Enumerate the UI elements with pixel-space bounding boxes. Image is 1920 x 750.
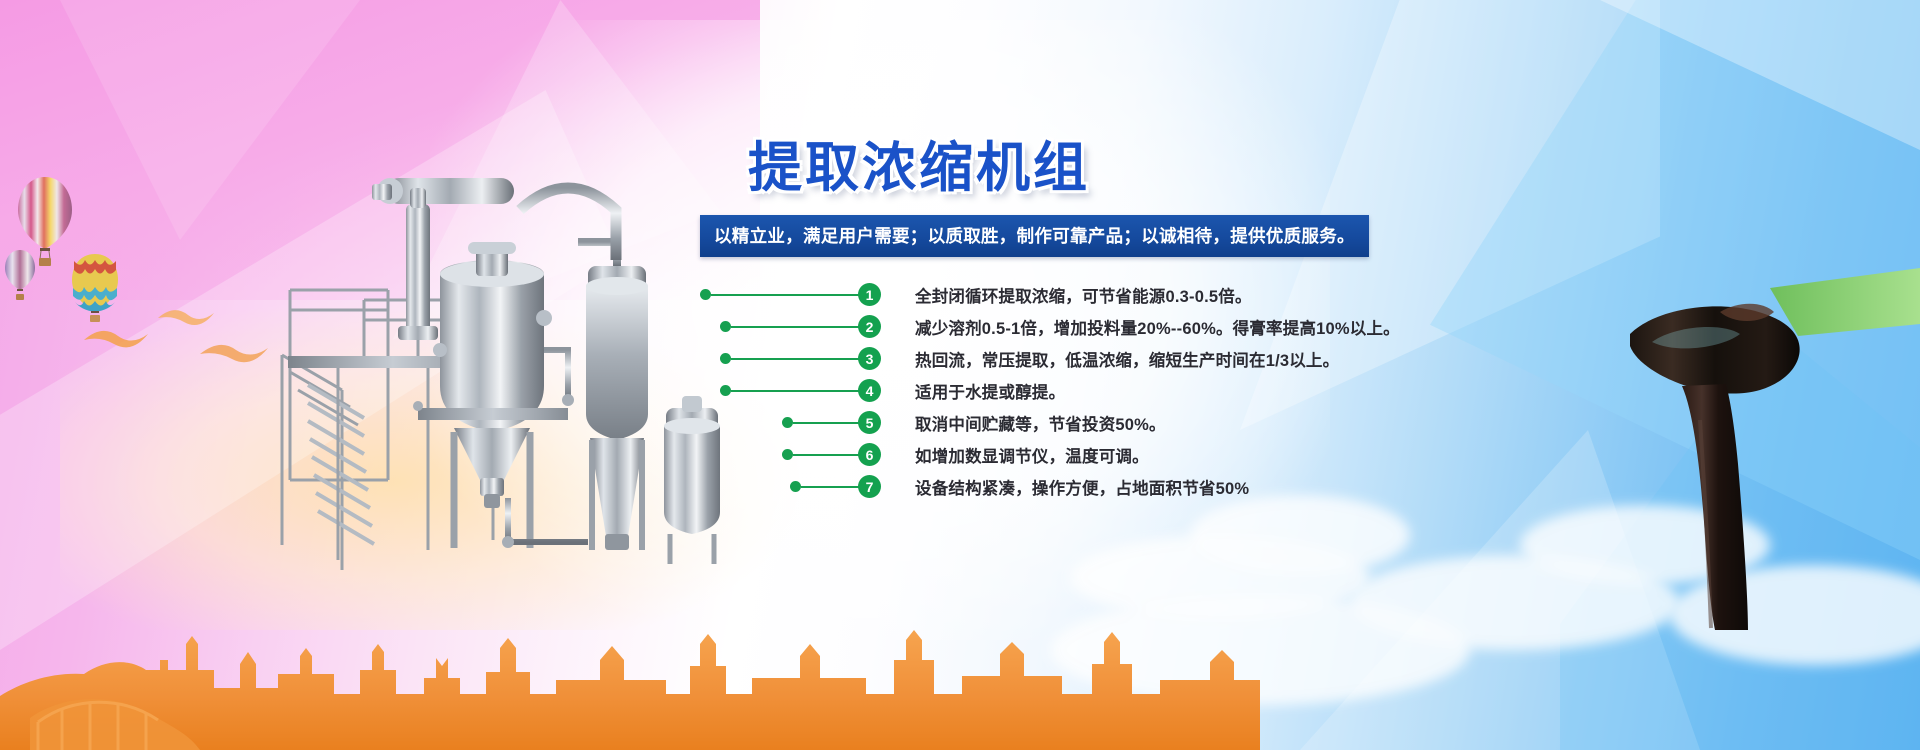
connector-line: [731, 326, 859, 328]
feature-text: 如增加数显调节仪，温度可调。: [915, 443, 1149, 467]
connector-dot-icon: [782, 449, 793, 460]
connector-dot-icon: [790, 481, 801, 492]
slogan-bar: 以精立业，满足用户需要；以质取胜，制作可靠产品；以诚相待，提供优质服务。: [700, 215, 1369, 257]
connector-dot-icon: [700, 289, 711, 300]
page-title: 提取浓缩机组: [700, 140, 1600, 197]
balloon-icon: [4, 248, 36, 300]
feature-list: 1全封闭循环提取浓缩，可节省能源0.3-0.5倍。2减少溶剂0.5-1倍，增加投…: [700, 279, 1600, 503]
feature-row: 4适用于水提或醇提。: [700, 375, 1600, 407]
balloon-icon: [70, 252, 120, 322]
feature-number-badge: 6: [858, 443, 881, 466]
feature-text: 全封闭循环提取浓缩，可节省能源0.3-0.5倍。: [915, 283, 1252, 307]
feature-text: 设备结构紧凑，操作方便，占地面积节省50%: [915, 475, 1249, 499]
feature-connector: 5: [782, 407, 881, 439]
feature-text: 适用于水提或醇提。: [915, 379, 1065, 403]
feature-number-badge: 4: [858, 379, 881, 402]
bird-icon: [84, 331, 148, 347]
connector-line: [793, 454, 859, 456]
feature-text: 热回流，常压提取，低温浓缩，缩短生产时间在1/3以上。: [915, 347, 1339, 371]
bird-icon: [200, 345, 268, 362]
banner-text-column: 提取浓缩机组 以精立业，满足用户需要；以质取胜，制作可靠产品；以诚相待，提供优质…: [700, 140, 1600, 503]
connector-dot-icon: [720, 385, 731, 396]
feature-row: 3热回流，常压提取，低温浓缩，缩短生产时间在1/3以上。: [700, 343, 1600, 375]
feature-row: 1全封闭循环提取浓缩，可节省能源0.3-0.5倍。: [700, 279, 1600, 311]
feature-connector: 2: [720, 311, 881, 343]
connector-line: [711, 294, 859, 296]
feature-row: 7设备结构紧凑，操作方便，占地面积节省50%: [700, 471, 1600, 503]
feature-connector: 6: [782, 439, 881, 471]
feature-number-badge: 1: [858, 283, 881, 306]
feature-row: 6如增加数显调节仪，温度可调。: [700, 439, 1600, 471]
connector-dot-icon: [720, 321, 731, 332]
feature-text: 取消中间贮藏等，节省投资50%。: [915, 411, 1166, 435]
feature-connector: 3: [720, 343, 881, 375]
feature-text: 减少溶剂0.5-1倍，增加投料量20%--60%。得膏率提高10%以上。: [915, 315, 1400, 339]
feature-connector: 1: [700, 279, 881, 311]
feature-row: 5取消中间贮藏等，节省投资50%。: [700, 407, 1600, 439]
feature-number-badge: 7: [858, 475, 881, 498]
product-banner: 提取浓缩机组 以精立业，满足用户需要；以质取胜，制作可靠产品；以诚相待，提供优质…: [0, 0, 1920, 750]
connector-line: [793, 422, 859, 424]
cloud-icon: [1190, 495, 1410, 575]
feature-number-badge: 3: [858, 347, 881, 370]
hot-air-balloon-chevron: [70, 252, 120, 322]
feature-connector: 7: [790, 471, 881, 503]
feature-number-badge: 2: [858, 315, 881, 338]
feature-row: 2减少溶剂0.5-1倍，增加投料量20%--60%。得膏率提高10%以上。: [700, 311, 1600, 343]
feature-connector: 4: [720, 375, 881, 407]
feature-number-badge: 5: [858, 411, 881, 434]
extract-drip-image: [1570, 250, 1920, 630]
connector-dot-icon: [720, 353, 731, 364]
leaf-icon: [1770, 268, 1920, 336]
hot-air-balloon-small: [4, 248, 36, 300]
connector-dot-icon: [782, 417, 793, 428]
extraction-concentration-unit-photo: [268, 150, 768, 570]
bird-icon: [158, 310, 214, 325]
connector-line: [801, 486, 859, 488]
connector-line: [731, 358, 859, 360]
connector-line: [731, 390, 859, 392]
city-skyline-silhouette: [0, 600, 1260, 750]
